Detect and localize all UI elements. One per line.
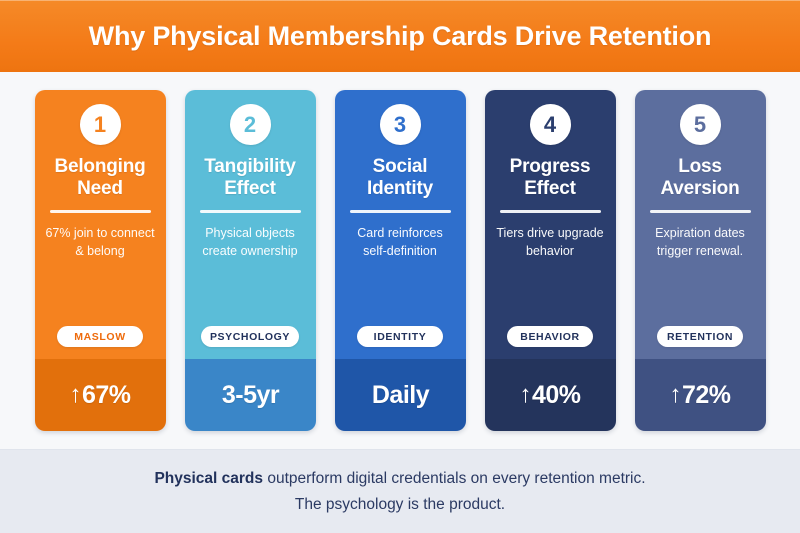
up-arrow-icon: ↑ xyxy=(669,383,681,407)
card-title: Tangibility Effect xyxy=(193,156,308,200)
divider xyxy=(500,210,601,213)
infographic-page: Why Physical Membership Cards Drive Rete… xyxy=(0,0,800,533)
card-progress-effect[interactable]: 4 Progress Effect Tiers drive upgrade be… xyxy=(485,90,616,431)
divider xyxy=(200,210,301,213)
divider xyxy=(650,210,751,213)
card-title: Belonging Need xyxy=(43,156,158,200)
card-stat-footer: 3-5yr xyxy=(185,359,316,431)
divider xyxy=(350,210,451,213)
card-loss-aversion[interactable]: 5 Loss Aversion Expiration dates trigger… xyxy=(635,90,766,431)
footer-emphasis: Physical cards xyxy=(154,470,263,487)
card-body: 2 Tangibility Effect Physical objects cr… xyxy=(185,90,316,359)
card-tag-badge: IDENTITY xyxy=(357,326,443,347)
card-stat-footer: Daily xyxy=(335,359,466,431)
card-number: 5 xyxy=(694,114,706,136)
card-stat-footer: ↑ 72% xyxy=(635,359,766,431)
card-number: 2 xyxy=(244,114,256,136)
up-arrow-icon: ↑ xyxy=(69,383,81,407)
card-stat-value: 72% xyxy=(682,381,731,410)
card-title: Progress Effect xyxy=(493,156,608,200)
page-title: Why Physical Membership Cards Drive Rete… xyxy=(89,23,712,50)
footer-line-1: Physical cards outperform digital creden… xyxy=(154,466,645,491)
card-description: Physical objects create ownership xyxy=(193,225,308,261)
footer-line-2: The psychology is the product. xyxy=(295,492,505,517)
card-number: 1 xyxy=(94,114,106,136)
card-tag-badge: BEHAVIOR xyxy=(507,326,593,347)
divider xyxy=(50,210,151,213)
card-stat-value: 67% xyxy=(82,381,131,410)
card-stat-value: 3-5yr xyxy=(222,381,279,410)
card-title: Social Identity xyxy=(343,156,458,200)
card-description: Tiers drive upgrade behavior xyxy=(493,225,608,261)
card-social-identity[interactable]: 3 Social Identity Card reinforces self-d… xyxy=(335,90,466,431)
cards-row: 1 Belonging Need 67% join to connect & b… xyxy=(0,72,800,449)
card-tag-badge: PSYCHOLOGY xyxy=(201,326,299,347)
card-title: Loss Aversion xyxy=(643,156,758,200)
card-number-badge: 5 xyxy=(680,104,721,145)
footer-summary: Physical cards outperform digital creden… xyxy=(0,449,800,533)
card-description: Card reinforces self-definition xyxy=(343,225,458,261)
card-number-badge: 4 xyxy=(530,104,571,145)
header-banner: Why Physical Membership Cards Drive Rete… xyxy=(0,0,800,72)
card-body: 1 Belonging Need 67% join to connect & b… xyxy=(35,90,166,359)
card-belonging-need[interactable]: 1 Belonging Need 67% join to connect & b… xyxy=(35,90,166,431)
card-number-badge: 3 xyxy=(380,104,421,145)
card-tangibility-effect[interactable]: 2 Tangibility Effect Physical objects cr… xyxy=(185,90,316,431)
card-body: 4 Progress Effect Tiers drive upgrade be… xyxy=(485,90,616,359)
card-body: 5 Loss Aversion Expiration dates trigger… xyxy=(635,90,766,359)
up-arrow-icon: ↑ xyxy=(519,383,531,407)
card-stat-footer: ↑ 67% xyxy=(35,359,166,431)
card-number: 4 xyxy=(544,114,556,136)
card-tag-badge: RETENTION xyxy=(657,326,743,347)
card-stat-footer: ↑ 40% xyxy=(485,359,616,431)
card-stat-value: Daily xyxy=(372,381,429,410)
footer-line-1-rest: outperform digital credentials on every … xyxy=(263,470,646,487)
card-description: Expiration dates trigger renewal. xyxy=(643,225,758,261)
card-body: 3 Social Identity Card reinforces self-d… xyxy=(335,90,466,359)
card-number-badge: 2 xyxy=(230,104,271,145)
card-description: 67% join to connect & belong xyxy=(43,225,158,261)
card-number: 3 xyxy=(394,114,406,136)
card-number-badge: 1 xyxy=(80,104,121,145)
card-stat-value: 40% xyxy=(532,381,581,410)
card-tag-badge: MASLOW xyxy=(57,326,143,347)
